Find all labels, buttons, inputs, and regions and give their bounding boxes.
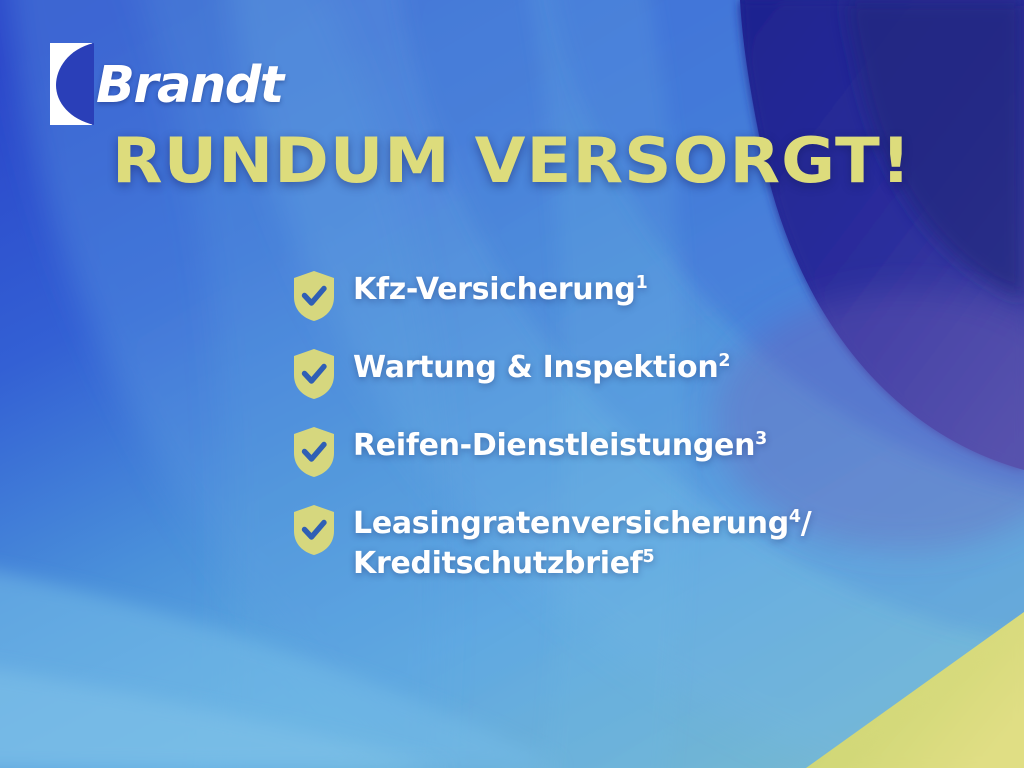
brandt-bracket-icon <box>48 43 94 125</box>
feature-label-text: Wartung & Inspektion <box>353 350 718 385</box>
list-item: Leasingratenversicherung4/Kreditschutzbr… <box>292 502 992 584</box>
feature-footnote: 5 <box>643 547 655 567</box>
list-item: Reifen-Dienstleistungen3 <box>292 424 992 478</box>
feature-label-text: Kreditschutzbrief <box>353 546 643 581</box>
feature-label-text: Kfz-Versicherung <box>353 272 636 307</box>
brand-wordmark: Brandt <box>96 60 283 111</box>
shield-check-icon <box>292 426 336 478</box>
feature-label-text: Leasingratenversicherung <box>353 506 789 541</box>
poster-canvas: Brandt RUNDUM VERSORGT! Kfz-Versicherung… <box>0 0 1024 768</box>
feature-label-text: Reifen-Dienstleistungen <box>353 428 755 463</box>
brand-logo[interactable]: Brandt <box>48 42 283 126</box>
feature-label: Reifen-Dienstleistungen3 <box>353 424 767 466</box>
feature-separator: / <box>801 506 812 541</box>
feature-footnote: 1 <box>636 273 648 293</box>
shield-check-icon <box>292 504 336 556</box>
shield-check-icon <box>292 270 336 322</box>
feature-footnote: 2 <box>718 351 730 371</box>
page-title: RUNDUM VERSORGT! <box>0 130 1024 192</box>
list-item: Wartung & Inspektion2 <box>292 346 992 400</box>
list-item: Kfz-Versicherung1 <box>292 268 992 322</box>
feature-footnote: 4 <box>789 507 801 527</box>
feature-label: Kfz-Versicherung1 <box>353 268 647 310</box>
feature-list: Kfz-Versicherung1 Wartung & Inspektion2 … <box>292 268 992 584</box>
feature-label: Wartung & Inspektion2 <box>353 346 730 388</box>
feature-label: Leasingratenversicherung4/Kreditschutzbr… <box>353 502 811 584</box>
shield-check-icon <box>292 348 336 400</box>
feature-footnote: 3 <box>755 429 767 449</box>
